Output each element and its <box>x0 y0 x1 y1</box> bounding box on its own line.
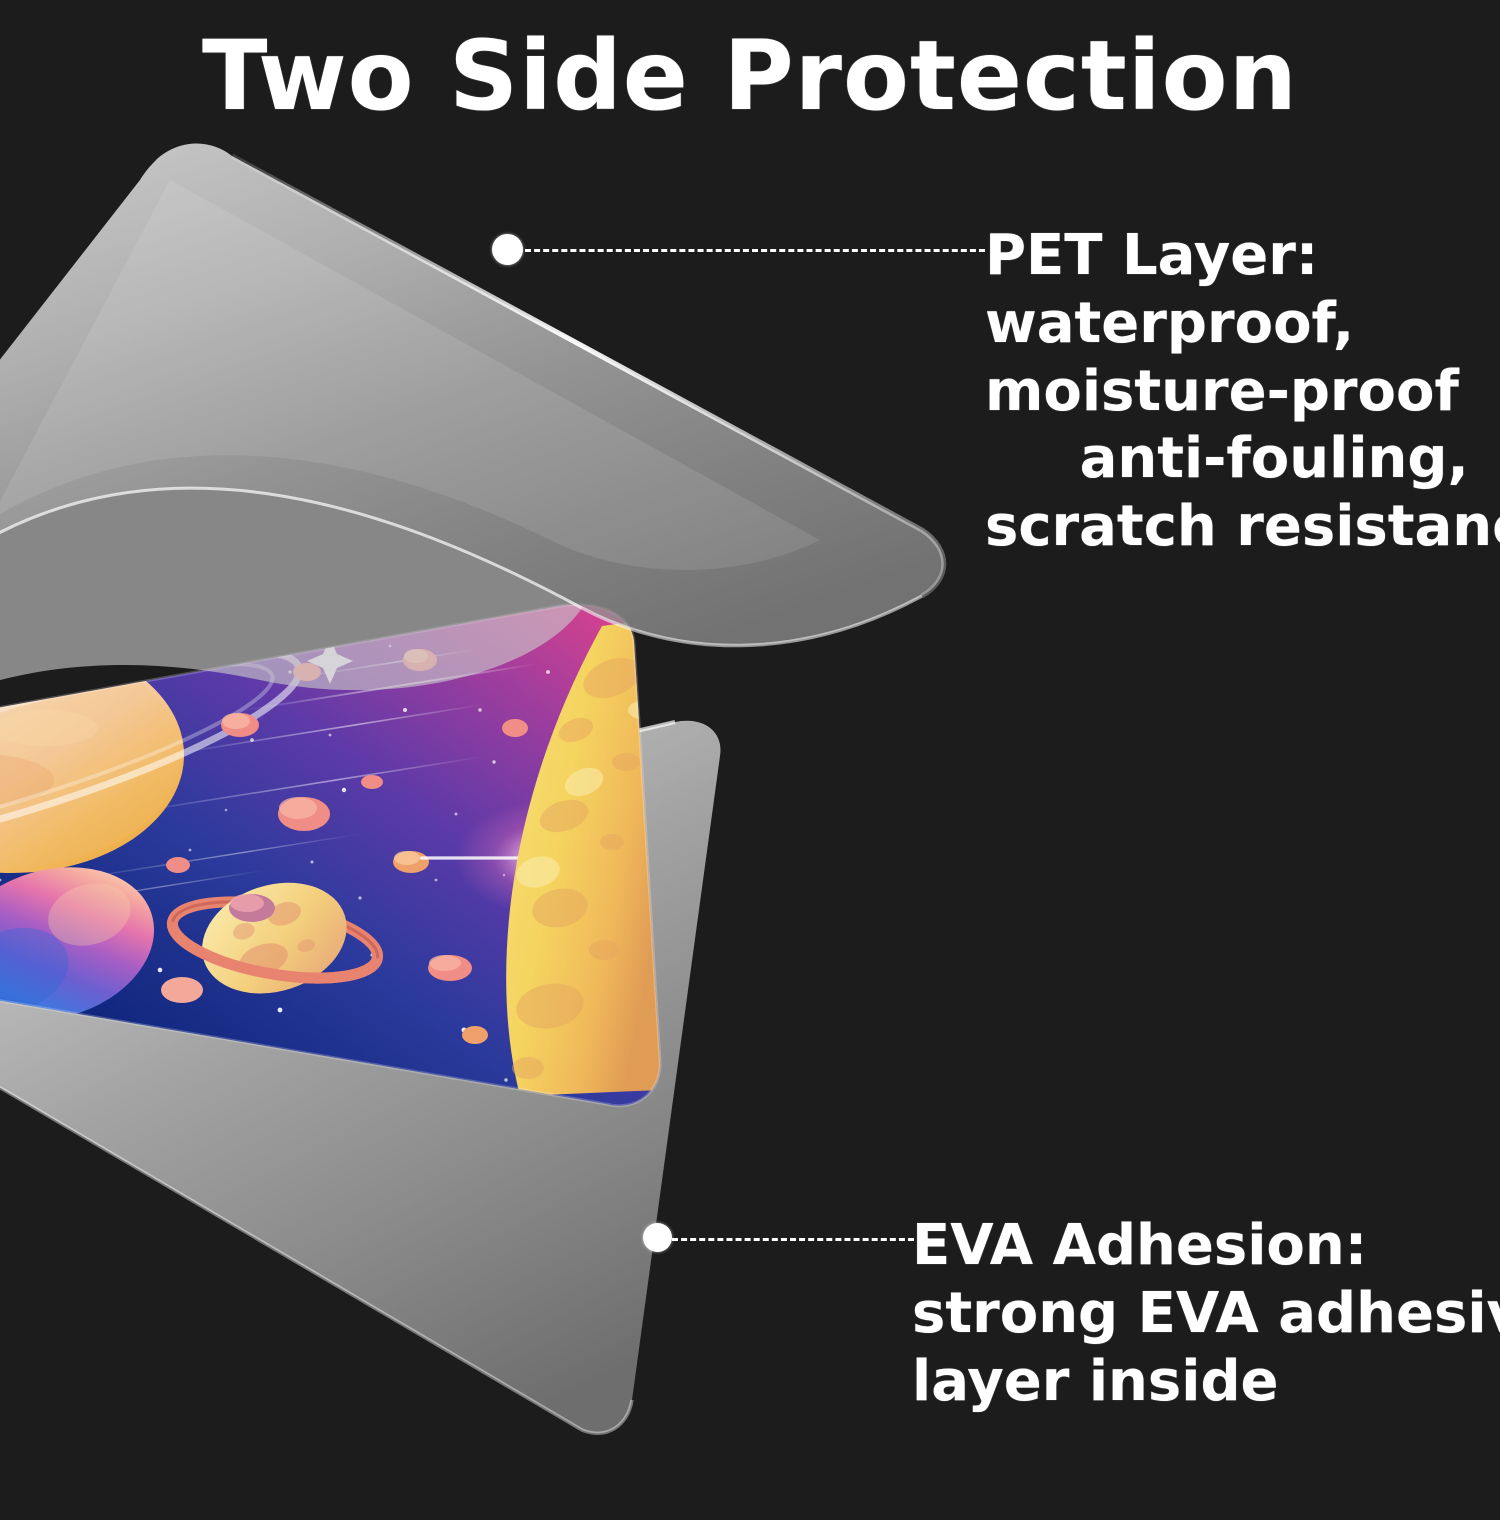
eva-leader-line <box>672 1238 914 1241</box>
pet-callout-line-3: moisture-proof <box>985 358 1500 426</box>
pet-callout-line-2: waterproof, <box>985 290 1500 358</box>
eva-adhesion-callout: EVA Adhesion: strong EVA adhesive layer … <box>912 1212 1500 1415</box>
pet-layer-callout: PET Layer: waterproof, moisture-proof an… <box>985 222 1500 561</box>
eva-callout-line-2: strong EVA adhesive <box>912 1280 1500 1348</box>
small-moon <box>161 977 203 1003</box>
pet-callout-line-1: PET Layer: <box>985 222 1500 290</box>
pet-callout-line-5: scratch resistance <box>985 493 1500 561</box>
pet-callout-line-4: anti-fouling, <box>985 425 1500 493</box>
eva-callout-line-3: layer inside <box>912 1348 1500 1416</box>
pet-leader-line <box>525 249 985 252</box>
infographic-canvas: Two Side Protection PET Layer: waterproo… <box>0 0 1500 1500</box>
eva-callout-line-1: EVA Adhesion: <box>912 1212 1500 1280</box>
pet-callout-dot[interactable] <box>492 234 523 265</box>
page-title: Two Side Protection <box>0 26 1500 127</box>
pet-protective-sheet <box>0 110 900 890</box>
eva-callout-dot[interactable] <box>643 1223 672 1252</box>
